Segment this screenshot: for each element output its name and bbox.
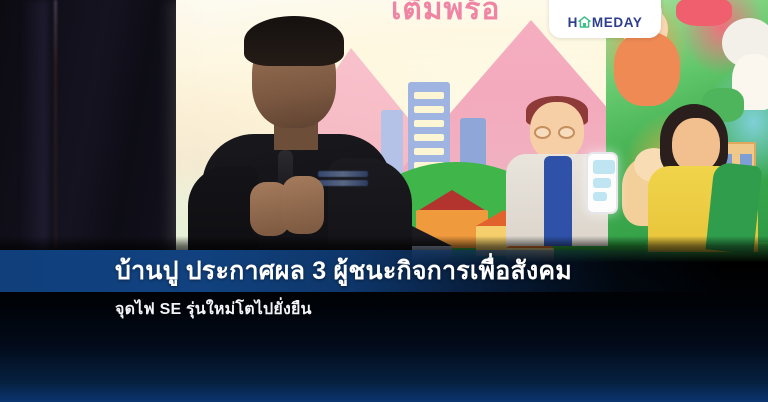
banner-image: เติมพร้อ บ้านปู ประกาศผล 3 ผู้ชนะกิจการเ…	[0, 0, 768, 402]
tshirt-logo	[318, 168, 368, 202]
illustrated-man-with-phone	[500, 96, 620, 246]
homeday-letters-meday: MEDAY	[592, 16, 643, 30]
screen-headline-fragment: เติมพร้อ	[391, 0, 500, 33]
house-icon	[578, 16, 591, 28]
illustrated-phone	[586, 152, 618, 214]
homeday-wordmark: H MEDAY	[568, 16, 643, 30]
illustrated-woman	[648, 104, 760, 250]
homeday-letter-h: H	[568, 16, 578, 30]
page-subtitle: จุดไฟ SE รุ่นใหม่โตไปยั่งยืน	[115, 298, 312, 322]
page-title: บ้านปู ประกาศผล 3 ผู้ชนะกิจการเพื่อสังคม	[115, 251, 572, 291]
homeday-logo-badge[interactable]: H MEDAY	[549, 0, 661, 38]
